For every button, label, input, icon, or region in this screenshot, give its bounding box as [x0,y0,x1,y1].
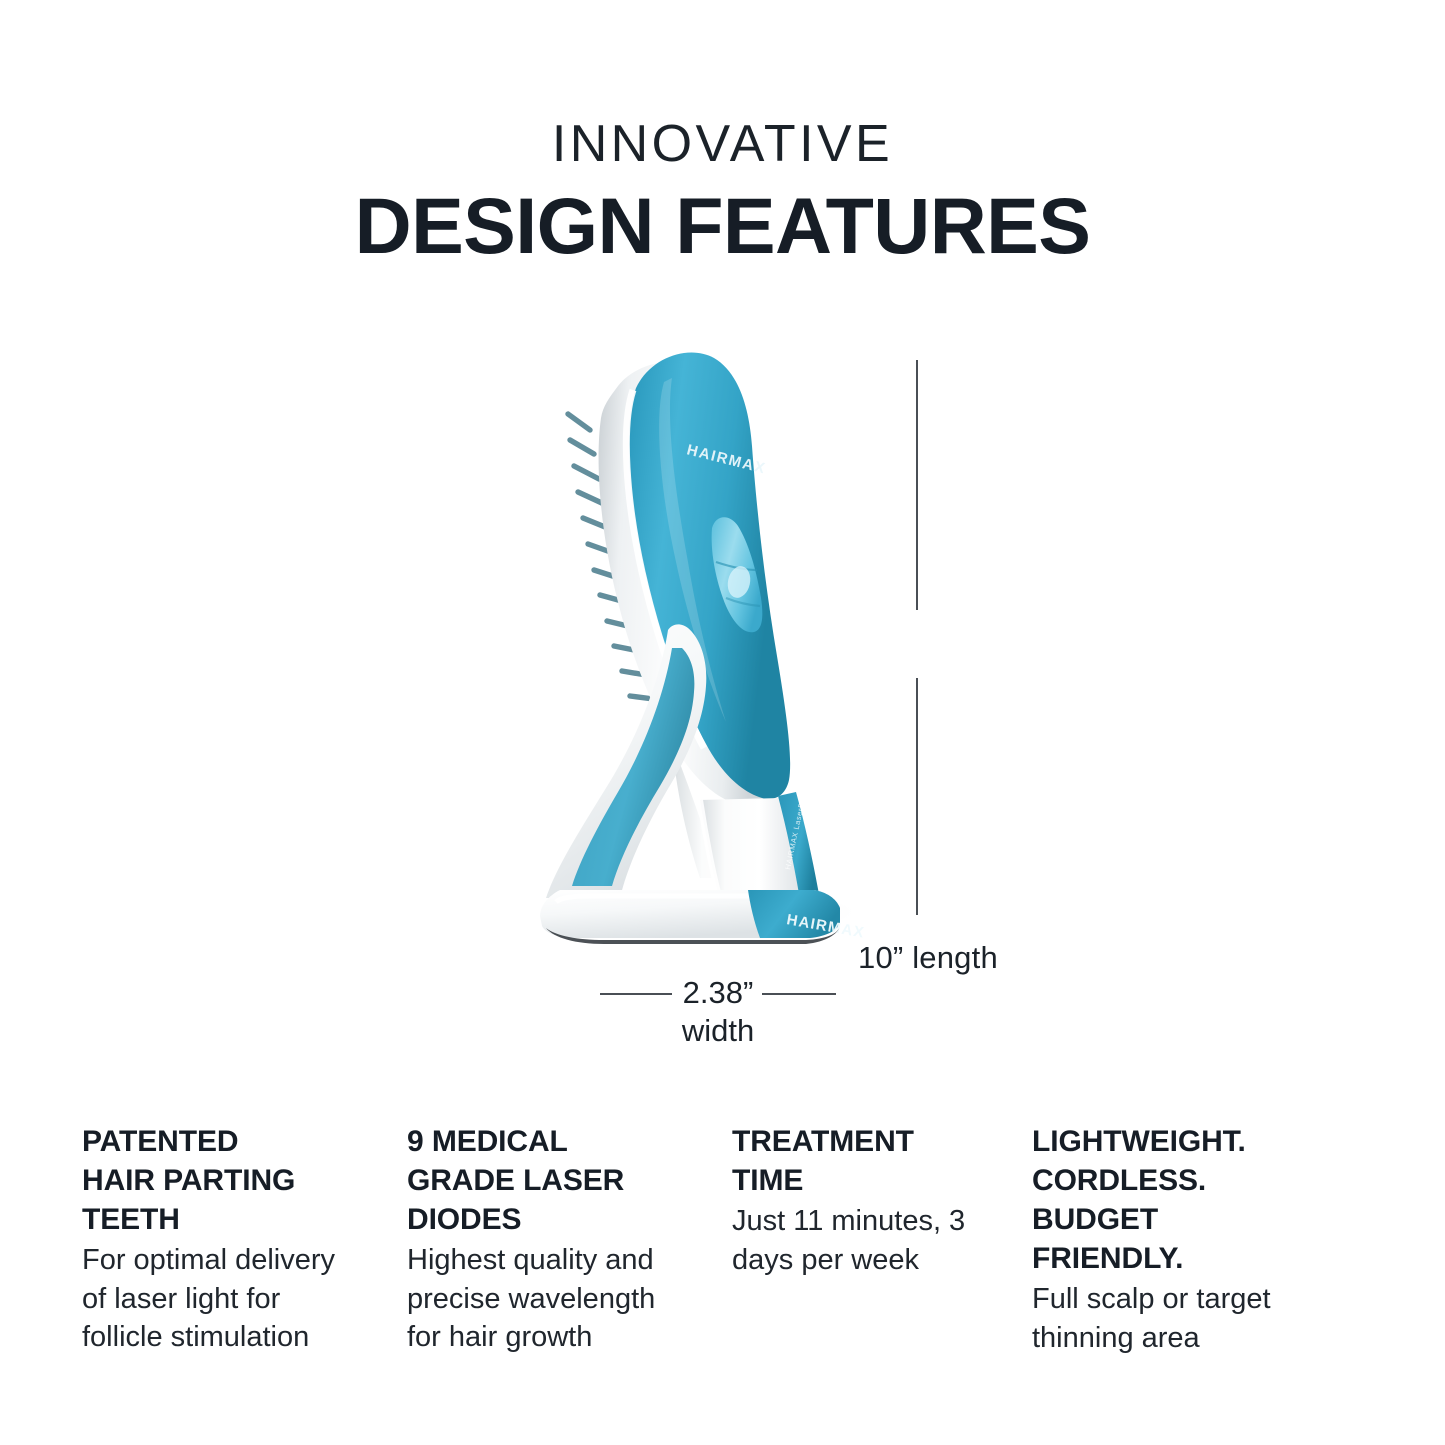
feature-body: Just 11 minutes, 3 days per week [732,1202,992,1279]
feature-title: TREATMENTTIME [732,1122,992,1200]
feature-body: For optimal delivery of laser light for … [82,1241,367,1357]
feature-body: Full scalp or target thinning area [1032,1280,1354,1357]
width-value-label: 2.38” [600,975,836,1011]
feature-columns: PATENTEDHAIR PARTINGTEETH For optimal de… [82,1122,1382,1357]
page-title: DESIGN FEATURES [0,186,1445,265]
feature-lightweight-cordless-budget-friendly: LIGHTWEIGHT.CORDLESS.BUDGETFRIENDLY. Ful… [1032,1122,1362,1357]
feature-title: 9 MEDICALGRADE LASERDIODES [407,1122,692,1239]
feature-title: PATENTEDHAIR PARTINGTEETH [82,1122,367,1239]
feature-title: LIGHTWEIGHT.CORDLESS.BUDGETFRIENDLY. [1032,1122,1354,1278]
feature-body: Highest quality and precise wavelength f… [407,1241,692,1357]
product-stage: HAIRMAX HAIRMAX LaserBand [0,330,1445,1070]
feature-9-medical-grade-laser-diodes: 9 MEDICALGRADE LASERDIODES Highest quali… [407,1122,732,1357]
width-word-label: width [600,1013,836,1049]
page-title-block: INNOVATIVE DESIGN FEATURES [0,118,1445,265]
feature-treatment-time: TREATMENTTIME Just 11 minutes, 3 days pe… [732,1122,1032,1357]
product-illustration: HAIRMAX HAIRMAX LaserBand [0,330,1445,1070]
infographic-page: INNOVATIVE DESIGN FEATURES [0,0,1445,1445]
width-dimension: 2.38” width [0,960,1445,1070]
feature-patented-hair-parting-teeth: PATENTEDHAIR PARTINGTEETH For optimal de… [82,1122,407,1357]
eyebrow-text: INNOVATIVE [0,118,1445,170]
